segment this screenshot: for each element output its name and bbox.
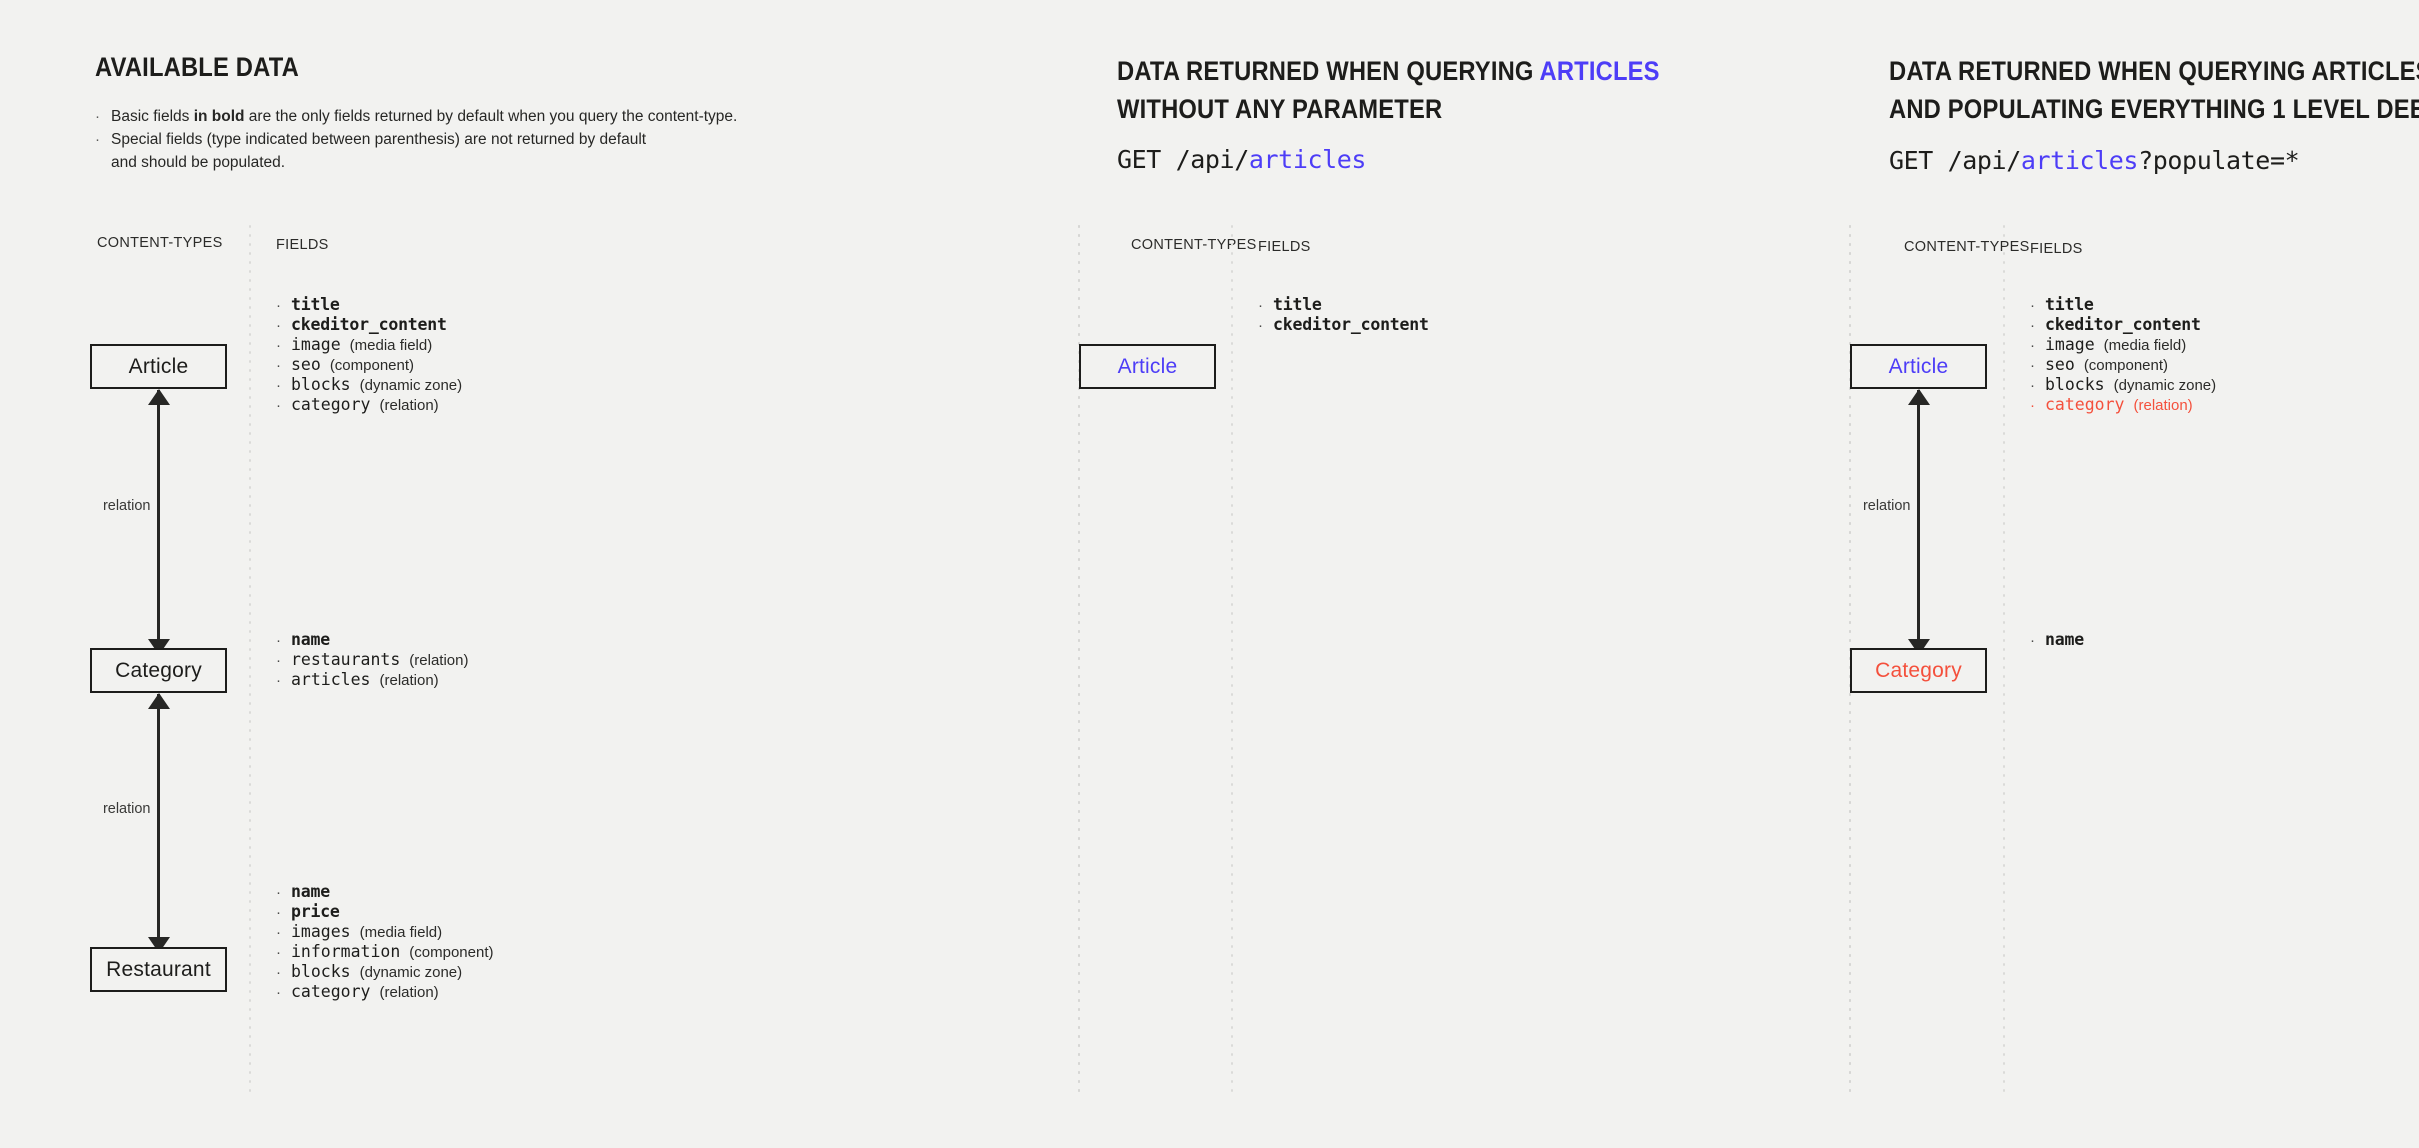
field-name: ckeditor_content <box>291 315 447 335</box>
field-type: (component) <box>330 356 414 376</box>
bullet-icon: · <box>1258 296 1273 316</box>
endpoint-populate: GET /api/articles?populate=* <box>1889 146 2299 175</box>
bullet-icon: · <box>276 883 291 903</box>
bullet-icon: · <box>276 983 291 1003</box>
bullet-icon: · <box>276 651 291 671</box>
endpoint-query: ?populate=* <box>2138 146 2299 175</box>
field-name: category <box>291 395 370 415</box>
inner-divider <box>1231 222 1233 1094</box>
field-name: title <box>1273 295 1322 315</box>
relation-shaft <box>1917 390 1920 654</box>
field-name: images <box>291 922 351 942</box>
entity-label: Restaurant <box>106 958 211 982</box>
field-name: name <box>291 882 330 902</box>
panel-no-parameter: DATA RETURNED WHEN QUERYING ARTICLES WIT… <box>1079 0 1850 1148</box>
bullet-icon: · <box>276 923 291 943</box>
endpoint-resource: articles <box>2021 146 2138 175</box>
field-type: (component) <box>2084 356 2168 376</box>
column-header-fields: FIELDS <box>1258 239 1311 255</box>
note-2-line2: and should be populated. <box>111 154 285 171</box>
page-title: AVAILABLE DATA <box>95 48 299 86</box>
field-type: (relation) <box>2133 396 2192 416</box>
field-name: ckeditor_content <box>1273 315 1429 335</box>
field-row: ·image(media field) <box>2030 335 2216 355</box>
field-name: ckeditor_content <box>2045 315 2201 335</box>
field-row: ·information(component) <box>276 942 494 962</box>
field-row: ·ckeditor_content <box>2030 315 2216 335</box>
bullet-icon: · <box>95 105 111 128</box>
field-list-restaurant: ·name ·price ·images(media field) ·infor… <box>276 882 494 1002</box>
field-name: information <box>291 942 400 962</box>
entity-label: Article <box>129 355 189 379</box>
bullet-icon: · <box>276 396 291 416</box>
relation-category-restaurant: relation <box>90 694 227 952</box>
field-list-category: ·name <box>2030 630 2093 650</box>
legend-note-2: · Special fields (type indicated between… <box>95 128 855 174</box>
field-name: price <box>291 902 340 922</box>
bullet-icon: · <box>276 631 291 651</box>
bullet-icon: · <box>276 943 291 963</box>
field-list-article: ·title ·ckeditor_content ·image(media fi… <box>2030 295 2216 415</box>
field-row: ·price <box>276 902 494 922</box>
field-type: (relation) <box>379 396 438 416</box>
bullet-icon: · <box>95 128 111 151</box>
relation-shaft <box>157 390 160 654</box>
panel-available-data: AVAILABLE DATA · Basic fields in bold ar… <box>0 0 1079 1148</box>
field-list-article: ·title ·ckeditor_content ·image(media fi… <box>276 295 462 415</box>
field-row-highlighted: ·category(relation) <box>2030 395 2216 415</box>
field-type: (media field) <box>2104 336 2187 356</box>
endpoint-resource: articles <box>1249 145 1366 174</box>
note-1-pre: Basic fields <box>111 108 194 125</box>
field-name: articles <box>291 670 370 690</box>
field-row: ·name <box>2030 630 2093 650</box>
entity-label: Article <box>1889 355 1949 379</box>
entity-label: Article <box>1118 355 1178 379</box>
panel-heading-populate-line2: AND POPULATING EVERYTHING 1 LEVEL DEEP <box>1889 90 2419 128</box>
field-type: (dynamic zone) <box>2114 376 2217 396</box>
note-2-line1: Special fields (type indicated between p… <box>111 131 646 148</box>
field-row: ·name <box>276 630 468 650</box>
field-name: blocks <box>2045 375 2105 395</box>
bullet-icon: · <box>276 963 291 983</box>
field-name: blocks <box>291 962 351 982</box>
field-row: ·blocks(dynamic zone) <box>2030 375 2216 395</box>
bullet-icon: · <box>2030 631 2045 651</box>
field-name: name <box>291 630 330 650</box>
field-row: ·category(relation) <box>276 395 462 415</box>
panel-heading-populate-line1: DATA RETURNED WHEN QUERYING ARTICLES <box>1889 52 2419 90</box>
inner-divider <box>2003 222 2005 1094</box>
field-name: name <box>2045 630 2084 650</box>
inner-divider <box>249 222 251 1094</box>
note-1-bold: in bold <box>194 108 245 125</box>
column-header-content-types: CONTENT-TYPES <box>1131 237 1257 253</box>
column-header-content-types: CONTENT-TYPES <box>1904 239 2030 255</box>
arrowhead-up-icon <box>148 389 170 405</box>
field-row: ·restaurants(relation) <box>276 650 468 670</box>
field-list-article: ·title ·ckeditor_content <box>1258 295 1438 335</box>
bullet-icon: · <box>276 316 291 336</box>
field-list-category: ·name ·restaurants(relation) ·articles(r… <box>276 630 468 690</box>
entity-label: Category <box>1875 659 1962 683</box>
relation-article-category: relation <box>90 390 227 654</box>
field-row: ·ckeditor_content <box>1258 315 1438 335</box>
entity-box-category[interactable]: Category <box>1850 648 1987 693</box>
field-name: seo <box>2045 355 2075 375</box>
field-row: ·name <box>276 882 494 902</box>
entity-box-restaurant[interactable]: Restaurant <box>90 947 227 992</box>
endpoint-method-path: GET /api/ <box>1117 145 1249 174</box>
field-name: seo <box>291 355 321 375</box>
field-name: category <box>291 982 370 1002</box>
field-type: (media field) <box>350 336 433 356</box>
field-row: ·blocks(dynamic zone) <box>276 962 494 982</box>
field-name: image <box>2045 335 2095 355</box>
field-row: ·image(media field) <box>276 335 462 355</box>
bullet-icon: · <box>276 296 291 316</box>
field-row: ·seo(component) <box>2030 355 2216 375</box>
field-type: (dynamic zone) <box>360 376 463 396</box>
diagram-canvas: AVAILABLE DATA · Basic fields in bold ar… <box>0 0 2419 1148</box>
field-row: ·title <box>1258 295 1438 315</box>
bullet-icon: · <box>2030 296 2045 316</box>
heading-highlight-articles: ARTICLES <box>1539 56 1659 86</box>
field-row: ·articles(relation) <box>276 670 468 690</box>
bullet-icon: · <box>276 356 291 376</box>
endpoint-no-parameter: GET /api/articles <box>1117 145 1366 174</box>
field-type: (media field) <box>360 923 443 943</box>
field-name: title <box>291 295 340 315</box>
relation-label: relation <box>1860 496 1914 516</box>
note-1-post: are the only fields returned by default … <box>245 108 738 125</box>
relation-label: relation <box>100 799 154 819</box>
bullet-icon: · <box>276 903 291 923</box>
field-type: (relation) <box>409 651 468 671</box>
column-header-fields: FIELDS <box>2030 241 2083 257</box>
bullet-icon: · <box>1258 316 1273 336</box>
field-name: restaurants <box>291 650 400 670</box>
relation-label: relation <box>100 496 154 516</box>
field-type: (dynamic zone) <box>360 963 463 983</box>
relation-shaft <box>157 694 160 952</box>
field-row: ·title <box>2030 295 2216 315</box>
entity-box-article[interactable]: Article <box>1079 344 1216 389</box>
bullet-icon: · <box>276 376 291 396</box>
panel-heading-no-parameter-line2: WITHOUT ANY PARAMETER <box>1117 90 1442 128</box>
legend-note-1: · Basic fields in bold are the only fiel… <box>95 105 855 128</box>
entity-box-category[interactable]: Category <box>90 648 227 693</box>
field-row: ·images(media field) <box>276 922 494 942</box>
field-name: title <box>2045 295 2094 315</box>
endpoint-method-path: GET /api/ <box>1889 146 2021 175</box>
bullet-icon: · <box>276 336 291 356</box>
panel-heading-no-parameter: DATA RETURNED WHEN QUERYING ARTICLES <box>1117 52 1660 90</box>
relation-article-category: relation <box>1850 390 1987 654</box>
field-name: category <box>2045 395 2124 415</box>
column-header-content-types: CONTENT-TYPES <box>97 235 223 251</box>
field-row: ·title <box>276 295 462 315</box>
field-row: ·category(relation) <box>276 982 494 1002</box>
field-row: ·ckeditor_content <box>276 315 462 335</box>
bullet-icon: · <box>2030 316 2045 336</box>
entity-box-article[interactable]: Article <box>90 344 227 389</box>
field-type: (relation) <box>379 983 438 1003</box>
bullet-icon: · <box>2030 376 2045 396</box>
entity-box-article[interactable]: Article <box>1850 344 1987 389</box>
field-name: image <box>291 335 341 355</box>
field-row: ·seo(component) <box>276 355 462 375</box>
panel-populate-deep: DATA RETURNED WHEN QUERYING ARTICLES AND… <box>1850 0 2419 1148</box>
entity-label: Category <box>115 659 202 683</box>
bullet-icon: · <box>2030 356 2045 376</box>
heading-line1-text: DATA RETURNED WHEN QUERYING <box>1117 56 1539 86</box>
arrowhead-up-icon <box>148 693 170 709</box>
field-name: blocks <box>291 375 351 395</box>
field-row: ·blocks(dynamic zone) <box>276 375 462 395</box>
field-type: (component) <box>409 943 493 963</box>
arrowhead-up-icon <box>1908 389 1930 405</box>
field-type: (relation) <box>379 671 438 691</box>
column-header-fields: FIELDS <box>276 237 329 253</box>
bullet-icon: · <box>2030 396 2045 416</box>
legend-notes: · Basic fields in bold are the only fiel… <box>95 105 855 174</box>
bullet-icon: · <box>276 671 291 691</box>
bullet-icon: · <box>2030 336 2045 356</box>
